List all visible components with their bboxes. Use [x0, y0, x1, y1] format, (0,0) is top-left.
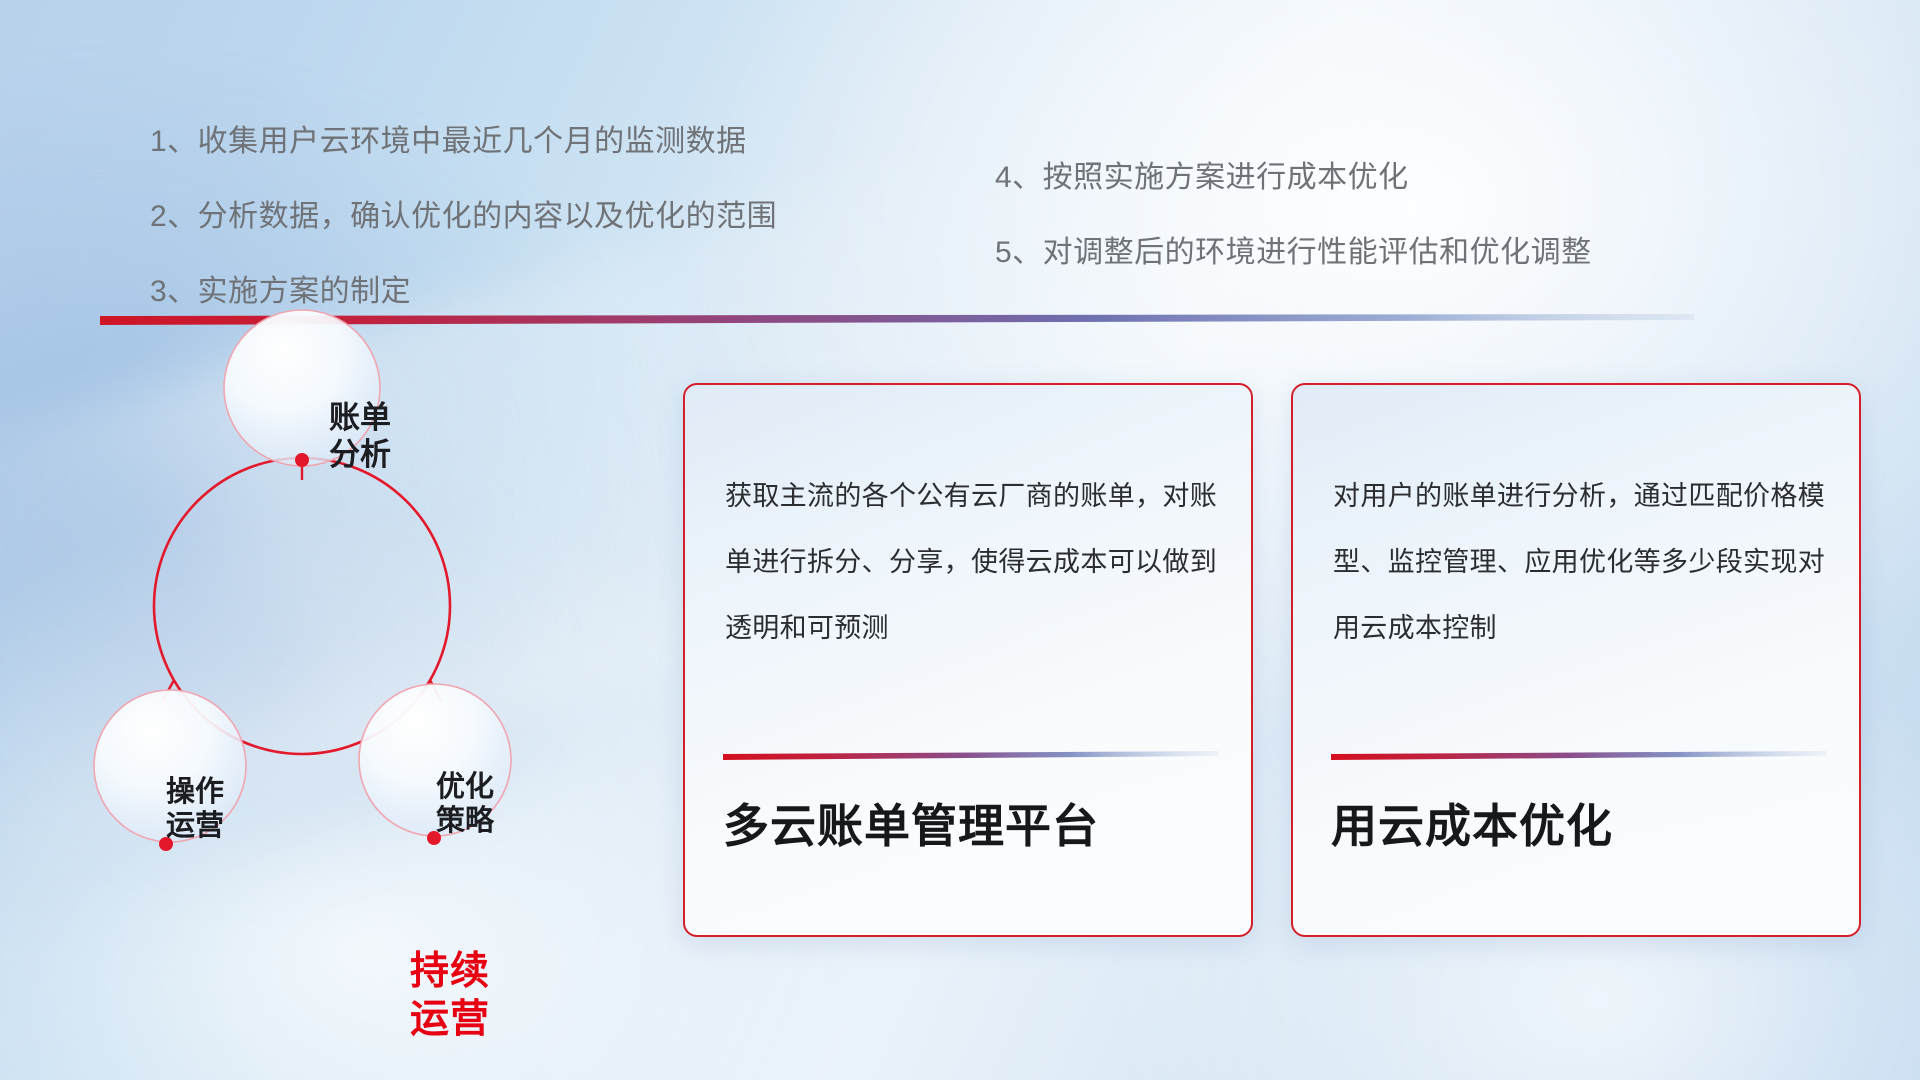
diagram-node-label-optimization-strategy: 优化 策略	[375, 770, 555, 838]
step-item-2: 2、分析数据，确认优化的内容以及优化的范围	[150, 202, 777, 232]
card-title: 多云账单管理平台	[723, 800, 1221, 853]
diagram-node-label-operations: 操作 运营	[105, 775, 285, 843]
step-item-1: 1、收集用户云环境中最近几个月的监测数据	[150, 127, 777, 157]
step-item-5: 5、对调整后的环境进行性能评估和优化调整	[995, 238, 1592, 268]
card-divider	[723, 751, 1219, 760]
steps-list-right: 4、按照实施方案进行成本优化 5、对调整后的环境进行性能评估和优化调整	[995, 163, 1592, 268]
step-item-3: 3、实施方案的制定	[150, 277, 777, 307]
card-title: 用云成本优化	[1331, 800, 1829, 853]
card-body-text: 获取主流的各个公有云厂商的账单，对账单进行拆分、分享，使得云成本可以做到透明和可…	[725, 463, 1217, 661]
steps-list-left: 1、收集用户云环境中最近几个月的监测数据 2、分析数据，确认优化的内容以及优化的…	[150, 127, 777, 307]
card-body-text: 对用户的账单进行分析，通过匹配价格模型、监控管理、应用优化等多少段实现对用云成本…	[1333, 463, 1825, 661]
step-item-4: 4、按照实施方案进行成本优化	[995, 163, 1592, 193]
slide-canvas: 1、收集用户云环境中最近几个月的监测数据 2、分析数据，确认优化的内容以及优化的…	[0, 0, 1920, 1080]
diagram-node-label-billing-analysis: 账单 分析	[270, 400, 450, 473]
card-multicloud-billing-platform[interactable]: 获取主流的各个公有云厂商的账单，对账单进行拆分、分享，使得云成本可以做到透明和可…	[683, 383, 1253, 937]
card-cloud-cost-optimization[interactable]: 对用户的账单进行分析，通过匹配价格模型、监控管理、应用优化等多少段实现对用云成本…	[1291, 383, 1861, 937]
card-divider	[1331, 751, 1827, 760]
diagram-center-label: 持续 运营	[340, 948, 560, 1043]
